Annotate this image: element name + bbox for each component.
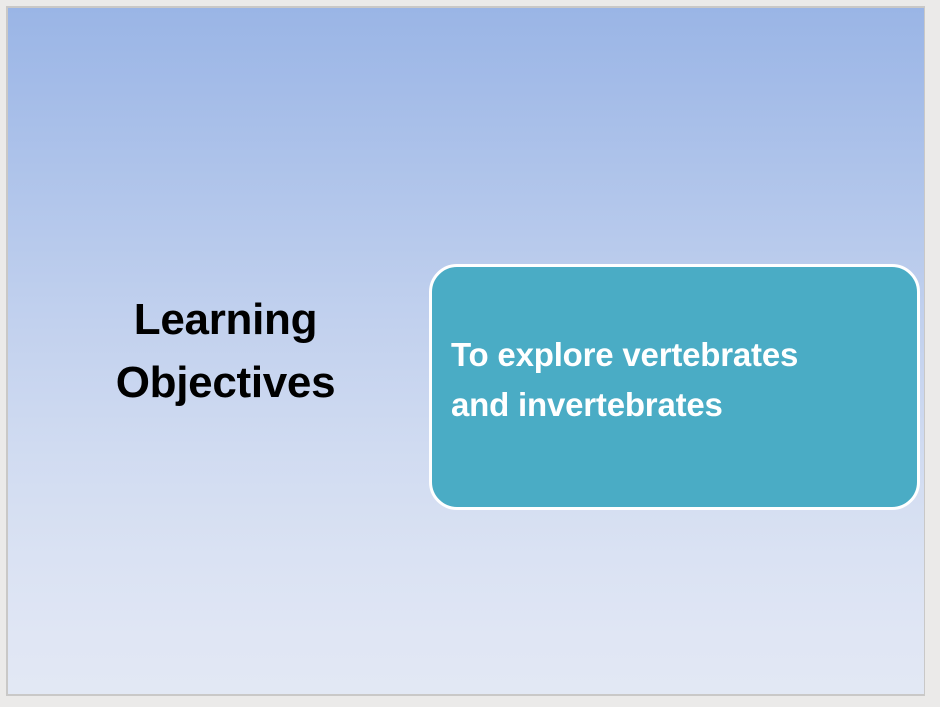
learning-objective-text: To explore vertebrates and invertebrates: [432, 330, 917, 430]
learning-objective-callout[interactable]: To explore vertebrates and invertebrates: [429, 264, 920, 510]
slide-canvas: Learning Objectives To explore vertebrat…: [8, 8, 924, 694]
presentation-frame: Learning Objectives To explore vertebrat…: [0, 0, 940, 707]
page-title: Learning Objectives: [28, 288, 423, 415]
